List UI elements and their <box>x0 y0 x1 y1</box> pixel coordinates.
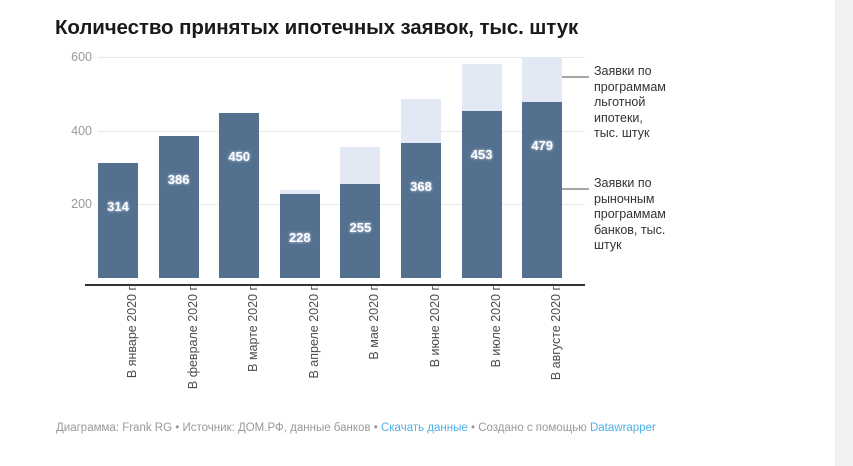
x-axis-label: В январе 2020 г. <box>98 284 138 402</box>
bar-value-label: 255 <box>340 220 380 235</box>
footer-separator-1: • <box>172 422 182 434</box>
legend-label-market: Заявки по рыночным программам банков, ты… <box>594 176 666 254</box>
chart-card: Количество принятых ипотечных заявок, ты… <box>0 0 835 466</box>
datawrapper-link[interactable]: Datawrapper <box>590 422 656 434</box>
download-data-link[interactable]: Скачать данные <box>381 422 468 434</box>
x-axis-label-text: В феврале 2020 г. <box>186 284 200 389</box>
bar-value-label: 386 <box>159 172 199 187</box>
bar-segment-preferential[interactable] <box>340 147 380 184</box>
bar-segment-preferential[interactable] <box>401 99 441 143</box>
bar-segment-preferential[interactable] <box>280 190 320 194</box>
legend-connector-line <box>562 76 589 78</box>
legend-label-preferential: Заявки по программам льготной ипотеки, т… <box>594 64 666 142</box>
bar-segment-market[interactable] <box>462 111 502 278</box>
x-axis-label-text: В марте 2020 г. <box>246 284 260 372</box>
x-axis-label: В мае 2020 г. <box>340 284 380 402</box>
y-axis-tick-label: 200 <box>71 197 92 211</box>
x-axis-label: В августе 2020 г. <box>522 284 562 402</box>
bar-segment-preferential[interactable] <box>522 57 562 102</box>
x-axis-labels: В январе 2020 г.В феврале 2020 г.В марте… <box>98 284 585 404</box>
bar-value-label: 368 <box>401 179 441 194</box>
y-axis-tick-label: 600 <box>71 50 92 64</box>
x-axis-label: В июне 2020 г. <box>401 284 441 402</box>
x-axis-label-text: В апреле 2020 г. <box>307 284 321 379</box>
x-axis-label: В июле 2020 г. <box>462 284 502 402</box>
footer-source: Источник: ДОМ.РФ, данные банков <box>182 422 370 434</box>
chart-title: Количество принятых ипотечных заявок, ты… <box>55 16 578 40</box>
x-axis-label: В феврале 2020 г. <box>159 284 199 402</box>
x-axis-label-text: В январе 2020 г. <box>125 284 139 378</box>
legend-connector-line <box>562 188 589 190</box>
footer-credits: Диаграмма: Frank RG • Источник: ДОМ.РФ, … <box>56 422 656 434</box>
footer-created-with: Создано с помощью <box>478 422 590 434</box>
bar-column[interactable]: 450 <box>219 50 259 278</box>
x-axis-label-text: В июне 2020 г. <box>428 284 442 367</box>
bar-value-label: 314 <box>98 199 138 214</box>
bar-column[interactable]: 453 <box>462 50 502 278</box>
x-axis-label: В апреле 2020 г. <box>280 284 320 402</box>
bar-column[interactable]: 314 <box>98 50 138 278</box>
bar-segment-market[interactable] <box>401 143 441 278</box>
bar-segment-market[interactable] <box>219 113 259 278</box>
bar-column[interactable]: 255 <box>340 50 380 278</box>
bar-column[interactable]: 479 <box>522 50 562 278</box>
bar-segment-market[interactable] <box>522 102 562 278</box>
x-axis-label-text: В июле 2020 г. <box>489 284 503 367</box>
bar-column[interactable]: 368 <box>401 50 441 278</box>
footer-chart-credit: Диаграмма: Frank RG <box>56 422 172 434</box>
bar-column[interactable]: 386 <box>159 50 199 278</box>
bar-segment-preferential[interactable] <box>462 64 502 111</box>
bar-value-label: 228 <box>280 230 320 245</box>
bar-value-label: 479 <box>522 138 562 153</box>
bar-value-label: 450 <box>219 149 259 164</box>
bar-value-label: 453 <box>462 147 502 162</box>
x-axis-label-text: В августе 2020 г. <box>549 284 563 380</box>
bar-group: 314386450228255368453479 <box>98 50 585 278</box>
page-background: Количество принятых ипотечных заявок, ты… <box>0 0 853 466</box>
bar-segment-market[interactable] <box>98 163 138 278</box>
y-axis-tick-label: 400 <box>71 124 92 138</box>
footer-separator-2: • <box>371 422 381 434</box>
x-axis-label: В марте 2020 г. <box>219 284 259 402</box>
plot-area: 200400600 314386450228255368453479 <box>85 50 585 282</box>
bar-column[interactable]: 228 <box>280 50 320 278</box>
x-axis-label-text: В мае 2020 г. <box>367 284 381 360</box>
footer-separator-3: • <box>468 422 478 434</box>
bar-segment-market[interactable] <box>159 136 199 278</box>
